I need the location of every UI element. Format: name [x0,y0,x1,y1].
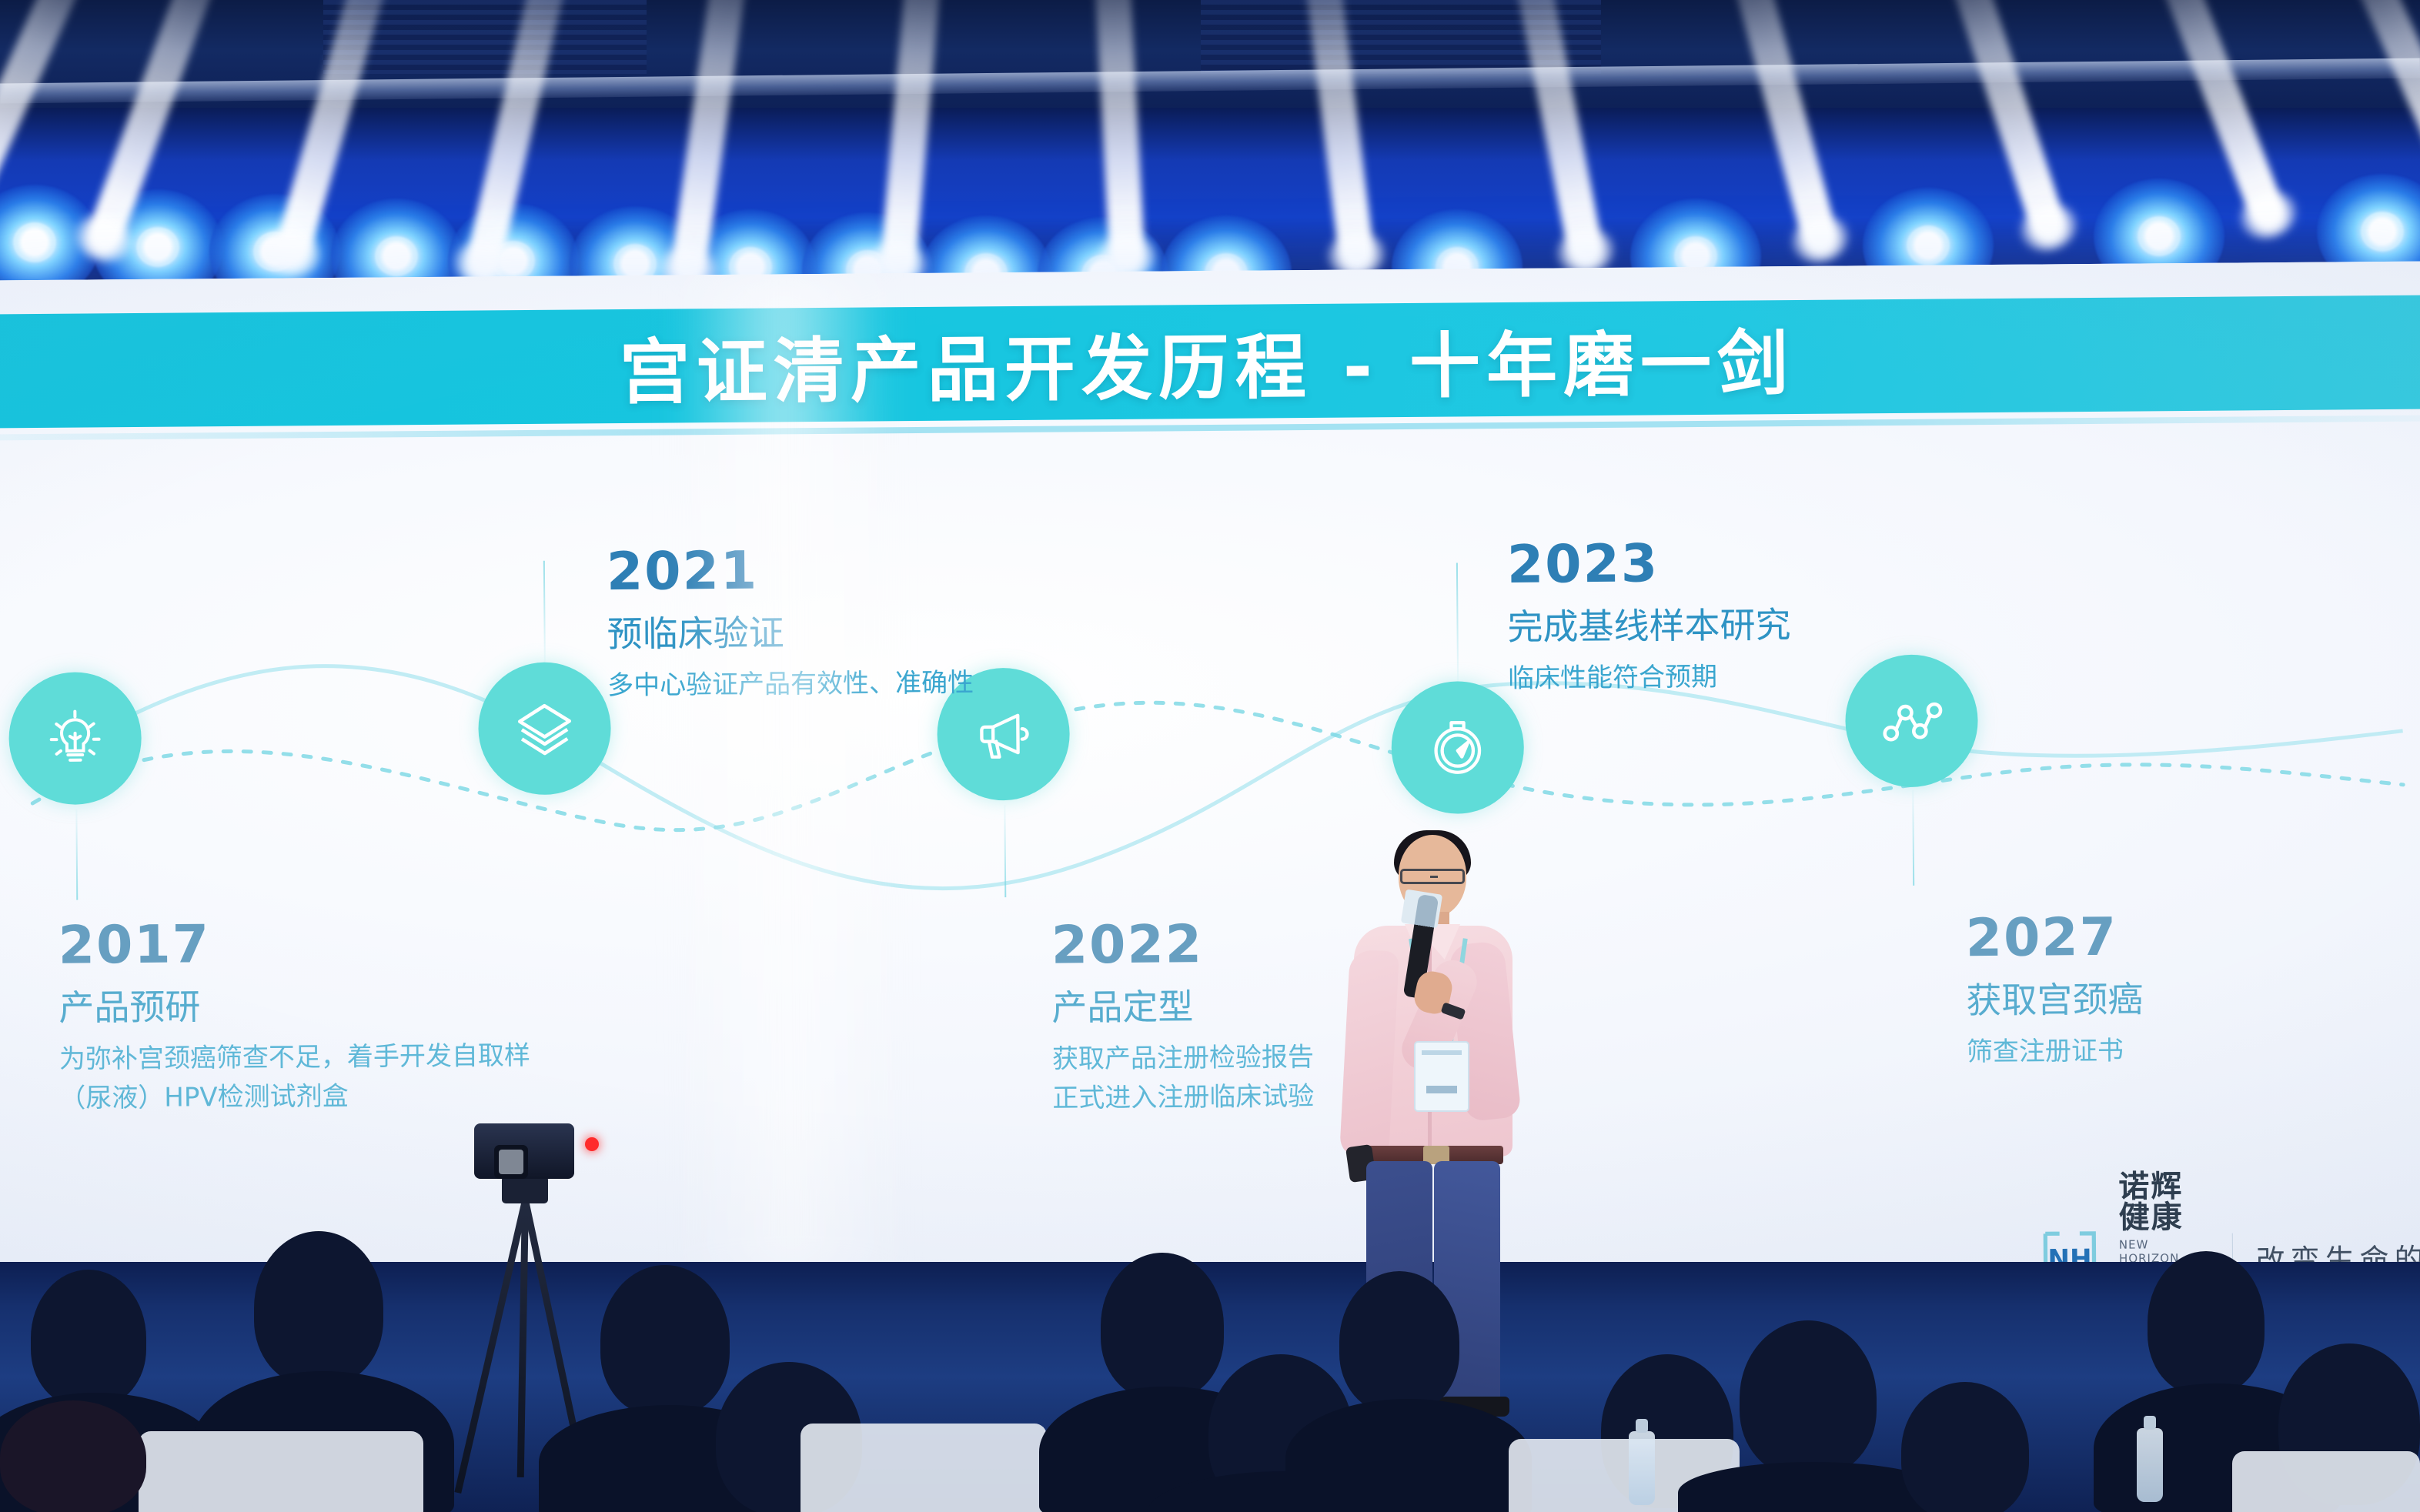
stage-floor [0,1262,2420,1512]
milestone-year: 2027 [1965,911,2143,965]
stage-scene: 宫证清产品开发历程 - 十年磨一剑 [0,0,2420,1512]
milestone-heading: 产品定型 [1051,984,1313,1030]
milestone-year: 2022 [1051,918,1314,973]
milestone-desc-line2: （尿液）HPV检测试剂盒 [59,1075,530,1118]
milestone-2022: 2022 产品定型 获取产品注册检验报告 正式进入注册临床试验 [1051,918,1315,1118]
timeline-node-2027[interactable] [1845,654,1978,787]
timeline-node-2021[interactable] [478,662,611,795]
timeline-section: 2021 预临床验证 多中心验证产品有效性、准确性 2023 完成基线样本研究 … [0,423,2420,1281]
milestone-heading: 获取宫颈癌 [1966,977,2143,1023]
slide-title-banner: 宫证清产品开发历程 - 十年磨一剑 [0,295,2420,429]
milestone-desc-line1: 多中心验证产品有效性、准确性 [607,663,974,706]
network-nodes-icon [1878,688,1945,755]
logo-name-cn: 诺辉健康 [2118,1171,2208,1233]
milestone-heading: 完成基线样本研究 [1507,603,1790,649]
timeline-node-2017[interactable] [8,672,142,805]
milestone-desc-line1: 筛查注册证书 [1967,1031,2144,1072]
slide-title: 宫证清产品开发历程 - 十年磨一剑 [619,306,1794,418]
camera-record-led [585,1137,599,1151]
video-camera [474,1123,574,1179]
lightbulb-icon [42,705,109,772]
milestone-desc-line1: 为弥补宫颈癌筛查不足，着手开发自取样 [59,1036,530,1079]
milestone-2027: 2027 获取宫颈癌 筛查注册证书 [1965,911,2144,1071]
speaker-badge [1414,1041,1469,1112]
milestone-year: 2021 [607,543,974,599]
milestone-year: 2017 [58,916,530,973]
speaker-shoe-right [1436,1397,1509,1417]
layers-icon [511,695,578,762]
milestone-2021: 2021 预临床验证 多中心验证产品有效性、准确性 [607,543,974,705]
timeline-wave [0,423,2420,1281]
camera-tripod-rig [431,1116,600,1500]
milestone-year: 2023 [1507,537,1791,592]
megaphone-icon [970,701,1037,768]
milestone-2017: 2017 产品预研 为弥补宫颈癌筛查不足，着手开发自取样 （尿液）HPV检测试剂… [58,916,530,1118]
tripod-head [502,1176,548,1203]
milestone-desc-line2: 正式进入注册临床试验 [1052,1076,1314,1118]
stopwatch-icon [1424,714,1491,781]
speaker-shoe-left [1363,1397,1434,1417]
tripod-leg [522,1200,591,1494]
milestone-heading: 产品预研 [58,983,530,1030]
speaker-glasses [1400,869,1465,884]
speaker-legs [1363,1161,1502,1406]
milestone-desc-line1: 获取产品注册检验报告 [1052,1037,1314,1079]
timeline-node-2023[interactable] [1391,681,1524,814]
milestone-2023: 2023 完成基线样本研究 临床性能符合预期 [1507,537,1792,698]
projection-screen: 宫证清产品开发历程 - 十年磨一剑 [0,262,2420,1281]
camera-lens-icon [494,1145,528,1179]
milestone-heading: 预临床验证 [607,609,973,656]
milestone-desc-line1: 临床性能符合预期 [1508,657,1791,699]
speaker-presenter [1343,835,1520,1358]
